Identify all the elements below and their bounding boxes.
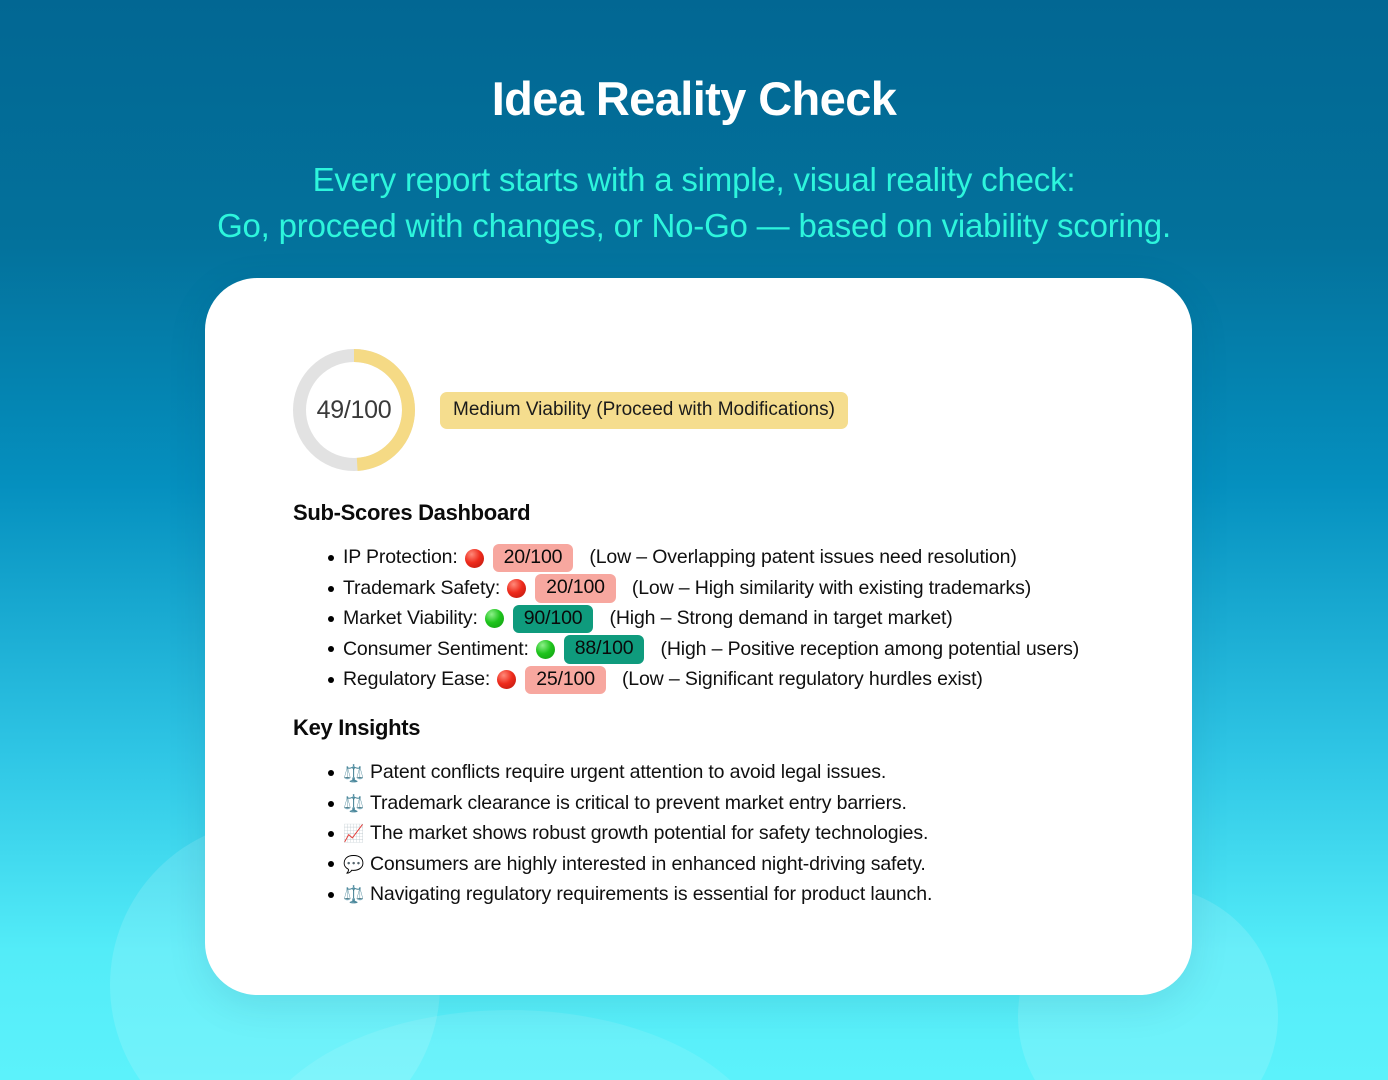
subscore-label: Trademark Safety:	[343, 579, 500, 599]
balance-scale-icon: ⚖️	[343, 795, 364, 812]
insight-text: Consumers are highly interested in enhan…	[370, 855, 926, 875]
subscore-note: (High – Strong demand in target market)	[609, 609, 952, 629]
subscore-note: (Low – High similarity with existing tra…	[632, 579, 1031, 599]
speech-balloon-icon: 💬	[343, 856, 364, 873]
bullet-dot-icon	[328, 770, 334, 776]
subscore-chip: 88/100	[564, 635, 645, 664]
balance-scale-icon: ⚖️	[343, 886, 364, 903]
bullet-dot-icon	[328, 646, 334, 652]
slide-header: Idea Reality Check Every report starts w…	[0, 0, 1388, 248]
insight-text: Navigating regulatory requirements is es…	[370, 885, 932, 905]
insight-text: Trademark clearance is critical to preve…	[370, 794, 907, 814]
insight-row: ⚖️Patent conflicts require urgent attent…	[328, 758, 932, 788]
bullet-dot-icon	[328, 831, 334, 837]
bullet-dot-icon	[328, 677, 334, 683]
red-circle-icon	[507, 579, 526, 598]
subscore-row: IP Protection:20/100(Low – Overlapping p…	[328, 543, 1079, 573]
subscore-chip: 20/100	[535, 574, 616, 603]
insight-row: ⚖️Trademark clearance is critical to pre…	[328, 788, 932, 818]
subscore-label: IP Protection:	[343, 548, 458, 568]
insight-row: ⚖️Navigating regulatory requirements is …	[328, 880, 932, 910]
insights-heading: Key Insights	[293, 715, 420, 741]
page-title: Idea Reality Check	[0, 74, 1388, 123]
green-circle-icon	[536, 640, 555, 659]
subscores-heading: Sub-Scores Dashboard	[293, 500, 530, 526]
overall-score-row: 49/100 Medium Viability (Proceed with Mo…	[293, 349, 848, 471]
gauge-score-label: 49/100	[293, 349, 415, 471]
subscore-note: (Low – Significant regulatory hurdles ex…	[622, 670, 983, 690]
insight-text: Patent conflicts require urgent attentio…	[370, 763, 886, 783]
report-card: 49/100 Medium Viability (Proceed with Mo…	[205, 278, 1192, 995]
subscore-row: Market Viability:90/100(High – Strong de…	[328, 604, 1079, 634]
viability-gauge-chart: 49/100	[293, 349, 415, 471]
subscore-label: Regulatory Ease:	[343, 670, 490, 690]
subscore-row: Consumer Sentiment:88/100(High – Positiv…	[328, 634, 1079, 664]
page-subtitle: Every report starts with a simple, visua…	[0, 157, 1388, 248]
insight-text: The market shows robust growth potential…	[370, 824, 928, 844]
slide-canvas: Idea Reality Check Every report starts w…	[0, 0, 1388, 1080]
subscore-row: Regulatory Ease:25/100(Low – Significant…	[328, 665, 1079, 695]
chart-increasing-icon: 📈	[343, 825, 364, 842]
key-insights-list: ⚖️Patent conflicts require urgent attent…	[328, 758, 932, 910]
bullet-dot-icon	[328, 801, 334, 807]
decorative-circle-bottom	[250, 1010, 770, 1080]
bullet-dot-icon	[328, 555, 334, 561]
subscore-note: (Low – Overlapping patent issues need re…	[589, 548, 1016, 568]
bullet-dot-icon	[328, 892, 334, 898]
subscore-note: (High – Positive reception among potenti…	[660, 640, 1079, 660]
subscore-label: Consumer Sentiment:	[343, 640, 529, 660]
subscore-label: Market Viability:	[343, 609, 478, 629]
insight-row: 📈The market shows robust growth potentia…	[328, 819, 932, 849]
red-circle-icon	[497, 670, 516, 689]
subtitle-line-2: Go, proceed with changes, or No-Go — bas…	[0, 203, 1388, 249]
bullet-dot-icon	[328, 586, 334, 592]
subscore-chip: 25/100	[525, 666, 606, 695]
subscores-list: IP Protection:20/100(Low – Overlapping p…	[328, 543, 1079, 695]
subscore-chip: 20/100	[493, 544, 574, 573]
subtitle-line-1: Every report starts with a simple, visua…	[0, 157, 1388, 203]
bullet-dot-icon	[328, 616, 334, 622]
balance-scale-icon: ⚖️	[343, 765, 364, 782]
subscore-row: Trademark Safety:20/100(Low – High simil…	[328, 573, 1079, 603]
subscore-chip: 90/100	[513, 605, 594, 634]
bullet-dot-icon	[328, 861, 334, 867]
insight-row: 💬Consumers are highly interested in enha…	[328, 849, 932, 879]
green-circle-icon	[485, 609, 504, 628]
viability-status-badge: Medium Viability (Proceed with Modificat…	[440, 392, 848, 429]
red-circle-icon	[465, 549, 484, 568]
